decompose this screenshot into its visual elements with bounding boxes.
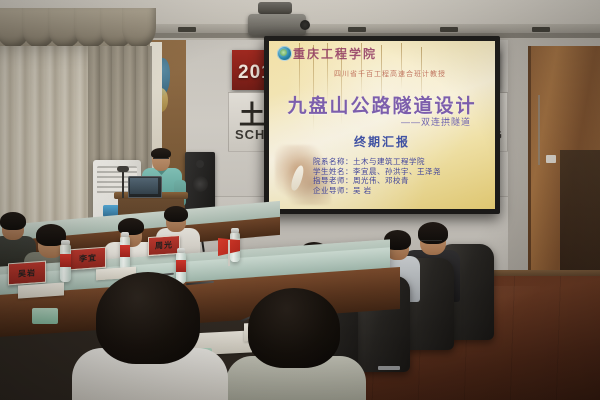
tissue-box [32,308,58,324]
presentation-slide: 重庆工程学院 四川省千百工程高速合班计教授 九盘山公路隧道设计 ——双连拱隧道 … [269,41,495,209]
bottle-label [60,254,71,267]
cabinet-edge [528,46,531,276]
student-glasses-icon [420,240,442,245]
audience-head-back [96,272,200,364]
audience-head-back [248,288,340,368]
slide-subtitle: ——双连拱隧道 [269,115,495,128]
microphone-icon [117,166,129,172]
ceiling-vent [348,27,366,32]
slide-phase-label: 终期汇报 [269,133,495,150]
slide-university-name: 重庆工程学院 [293,45,443,60]
laptop-screen-glow [130,178,158,194]
presenter-glasses-icon [153,158,169,163]
projection-screen: 重庆工程学院 四川省千百工程高速合班计教授 九盘山公路隧道设计 ——双连拱隧道 … [264,36,500,214]
slide-info-row: 院系名称：土木与建筑工程学院 [313,157,483,167]
slide-info-row: 学生姓名：李宜晨、孙洪宇、王泽尧 [313,167,483,177]
ceiling-vent [532,27,550,32]
speaker-tweeter-icon [196,160,204,168]
bottle-label [120,245,130,257]
ceiling-vent [178,27,196,32]
judge-hair [0,212,26,230]
projector-bracket [258,2,292,14]
slide-info-block: 院系名称：土木与建筑工程学院 学生姓名：李宜晨、孙洪宇、王泽尧 指导老师：周光伟… [313,157,483,195]
curtain-swag [122,8,156,48]
microphone-stand [122,170,124,198]
slide-title: 九盘山公路隧道设计 [269,91,495,118]
projector-lens-icon [300,20,310,30]
ceiling-projector [248,14,306,36]
bottle-cap [231,228,239,233]
university-logo-inner-icon [280,49,287,56]
bottle-cap [61,240,70,245]
wall-outlet [546,155,556,163]
bottle-cap [121,232,129,237]
slide-info-row: 指导老师：周光伟、邓校青 [313,176,483,186]
name-tent-card: 吴岩 [8,261,46,286]
chair-base [378,366,400,370]
name-tent-card: 周光 [148,235,180,256]
conference-room-photo: 2015届 计答辩 土木 学院 SCHOOL NGINEERING [0,0,600,400]
wall-cable [538,95,540,165]
name-tent-card: 李宜 [70,247,106,271]
slide-sub-header: 四川省千百工程高速合班计教授 [305,69,475,79]
judge-hair [164,206,188,222]
ceiling-vent [440,27,458,32]
slide-info-row: 企业导师：吴 岩 [313,186,483,196]
bottle-label [176,260,186,272]
cabinet-shadow [560,150,600,270]
bottle-cap [177,248,185,253]
desk-flag-pole [228,240,230,266]
speaker-cone-icon [192,176,208,192]
